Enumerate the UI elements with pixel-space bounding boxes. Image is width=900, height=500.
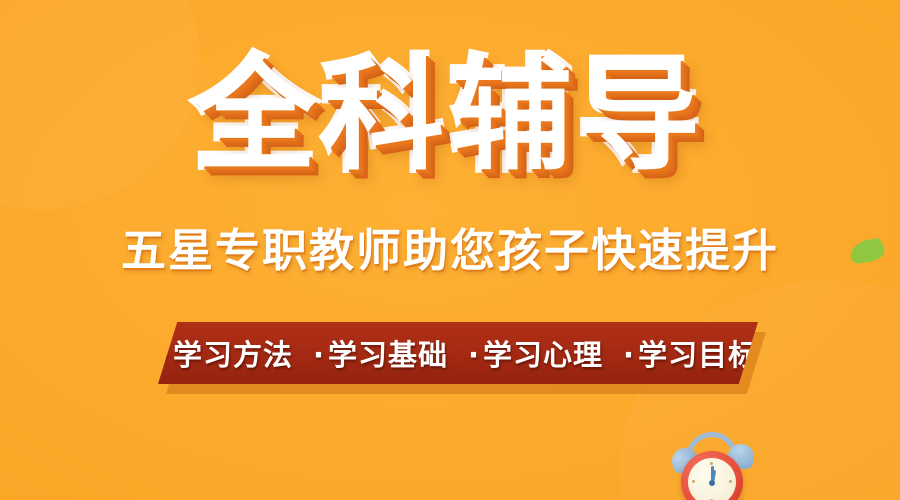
clock-tick-9 xyxy=(692,480,695,483)
headline-container: 全科辅导 xyxy=(0,54,900,178)
ribbon-item-2-label: 学习心理 xyxy=(483,338,603,372)
clock-center-pin xyxy=(709,480,715,486)
ribbon-item-1-label: 学习基础 xyxy=(328,338,448,372)
bullet-dot-icon: · xyxy=(623,338,635,372)
bullet-dot-icon: · xyxy=(468,338,480,372)
clock-tick-12 xyxy=(710,462,713,465)
ribbon-item-1: ·学习基础 xyxy=(313,332,448,374)
bullet-dot-icon: · xyxy=(158,338,170,372)
ribbon-item-0-label: 学习方法 xyxy=(173,338,293,372)
alarm-clock-icon xyxy=(665,432,761,500)
page-subtitle: 五星专职教师助您孩子快速提升 xyxy=(121,226,779,276)
bullet-dot-icon: · xyxy=(313,338,325,372)
clock-face xyxy=(688,458,736,500)
ribbon-item-2: ·学习心理 xyxy=(468,332,603,374)
ribbon-band: ·学习方法 ·学习基础 ·学习心理 ·学习目标 xyxy=(158,322,758,384)
ribbon-item-list: ·学习方法 ·学习基础 ·学习心理 ·学习目标 xyxy=(158,332,758,374)
page-title: 全科辅导 xyxy=(194,54,706,178)
clock-tick-3 xyxy=(729,480,732,483)
subheadline-container: 五星专职教师助您孩子快速提升 xyxy=(0,226,900,276)
feature-ribbon: ·学习方法 ·学习基础 ·学习心理 ·学习目标 xyxy=(158,322,758,384)
ribbon-item-3-label: 学习目标 xyxy=(638,338,758,372)
ribbon-item-0: ·学习方法 xyxy=(158,332,293,374)
promo-banner: 全科辅导 五星专职教师助您孩子快速提升 ·学习方法 ·学习基础 ·学习心理 ·学… xyxy=(0,0,900,500)
ribbon-item-3: ·学习目标 xyxy=(623,332,758,374)
